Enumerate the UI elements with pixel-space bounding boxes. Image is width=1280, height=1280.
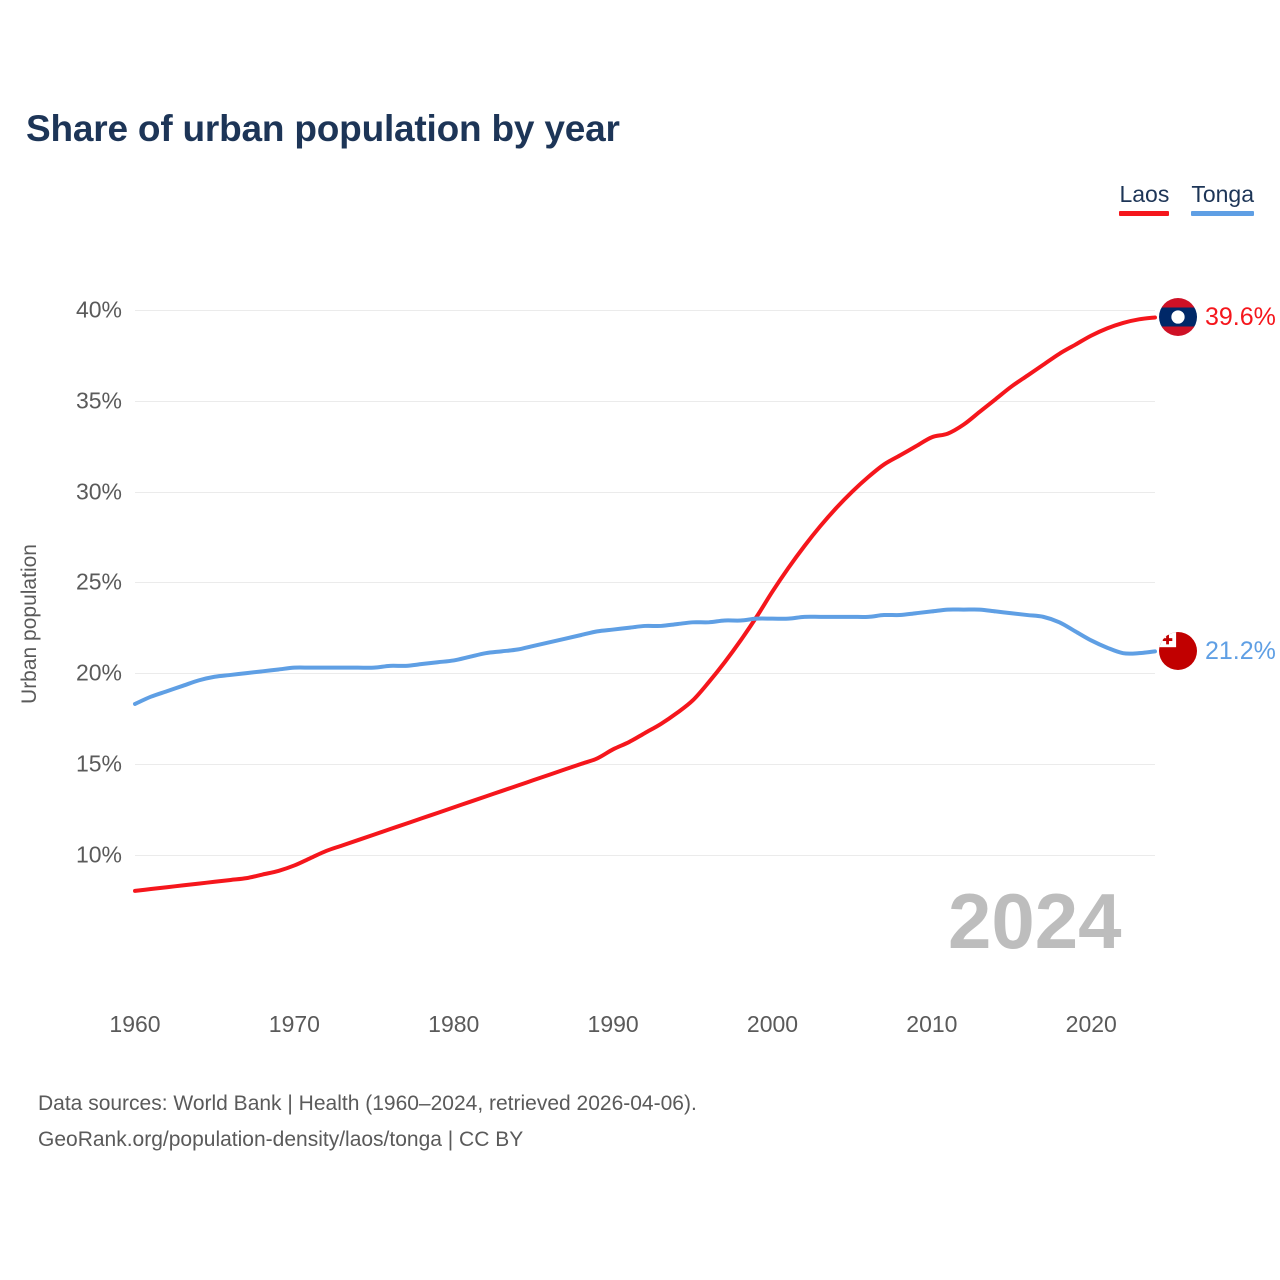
tonga-flag-icon [1159,632,1197,670]
endpoint-value-laos: 39.6% [1205,303,1276,332]
gridline [135,764,1155,765]
x-tick-label: 1990 [588,1011,639,1038]
legend: Laos Tonga [1119,182,1254,216]
footer-credits: Data sources: World Bank | Health (1960–… [38,1086,697,1158]
x-tick-label: 2020 [1066,1011,1117,1038]
y-tick-label: 30% [76,478,122,505]
endpoint-laos[interactable]: 39.6% [1159,298,1276,336]
plot-area [135,283,1155,909]
y-tick-label: 15% [76,750,122,777]
x-tick-label: 1960 [109,1011,160,1038]
footer-line-2: GeoRank.org/population-density/laos/tong… [38,1122,697,1158]
laos-flag-icon [1159,298,1197,336]
gridline [135,492,1155,493]
legend-item-tonga[interactable]: Tonga [1191,182,1254,216]
y-tick-label: 25% [76,569,122,596]
legend-swatch-tonga [1191,211,1254,216]
gridline [135,855,1155,856]
endpoint-tonga[interactable]: 21.2% [1159,632,1276,670]
x-tick-label: 2000 [747,1011,798,1038]
y-tick-label: 40% [76,297,122,324]
gridline [135,401,1155,402]
x-tick-label: 1970 [269,1011,320,1038]
legend-label-laos: Laos [1119,182,1169,207]
gridline [135,582,1155,583]
y-axis-title: Urban population [18,544,42,704]
legend-item-laos[interactable]: Laos [1119,182,1169,216]
y-tick-label: 20% [76,660,122,687]
gridline [135,310,1155,311]
x-tick-label: 2010 [906,1011,957,1038]
legend-label-tonga: Tonga [1191,182,1254,207]
x-tick-label: 1980 [428,1011,479,1038]
legend-swatch-laos [1119,211,1169,216]
page-title: Share of urban population by year [26,108,620,150]
endpoint-value-tonga: 21.2% [1205,637,1276,666]
gridline [135,673,1155,674]
chart-canvas: Share of urban population by year Laos T… [0,0,1280,1280]
y-tick-label: 10% [76,841,122,868]
footer-line-1: Data sources: World Bank | Health (1960–… [38,1086,697,1122]
y-tick-label: 35% [76,387,122,414]
